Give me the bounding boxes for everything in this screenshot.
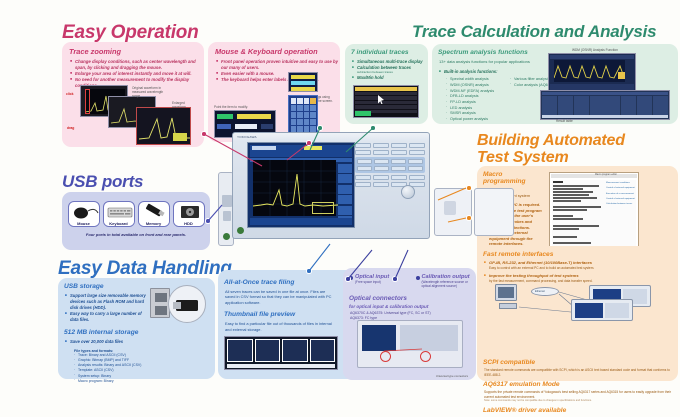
analysis-item: Optical power analysis (446, 117, 504, 123)
usb-label: Keyboard (104, 221, 134, 226)
photo-front-panel-connectors (357, 320, 463, 368)
photo-usb-sockets (150, 288, 170, 318)
power-indicator (237, 227, 244, 234)
heading-labview: LabVIEW® driver available (483, 407, 678, 414)
code-label: Calculation between traces (606, 202, 636, 207)
file-types-list: File types and formats: Trace: Binary an… (74, 349, 215, 383)
analyzer-unit-icon-2 (571, 299, 633, 321)
usb-ports-footnote: Four ports in total available on front a… (62, 232, 210, 237)
connector-dot-trace-zoom (201, 131, 207, 137)
section-title-easy-data-handling: Easy Data Handling (58, 258, 232, 280)
connector-dot-spectrum (317, 125, 323, 131)
spectrum-graph (253, 160, 336, 216)
heading-optical-input: Optical input (349, 274, 410, 280)
keyboard-icon (104, 202, 135, 222)
caption-point-item: Point the item to modify. (214, 105, 248, 109)
connector-dot-traces (370, 125, 376, 131)
sub-calibration-output: (Wavelength reference source or optical … (416, 280, 477, 288)
section-title-easy-operation: Easy Operation (62, 22, 199, 44)
connector-dot-remote (466, 215, 472, 221)
bullet-trace-zooming-1: Change display conditions, such as cente… (70, 59, 204, 71)
bullet-traces-3: Max/Min hold (352, 75, 428, 81)
screenshot-wdm-analysis (548, 53, 636, 93)
heading-calibration-output: Calibration output (416, 274, 477, 280)
mouse-icon (69, 202, 100, 222)
optical-input-block: Optical input (Free space input) (349, 274, 410, 288)
connector-dot-usb (205, 218, 211, 224)
heading-mouse-keyboard: Mouse & Keyboard operation (215, 47, 340, 56)
screenshot-onscreen-keypad (288, 95, 318, 137)
section-title-trace-calculation: Trace Calculation and Analysis (412, 22, 656, 42)
annotation-click: click (66, 92, 74, 96)
bullet-interfaces-sub: Easy to control with an external PC and … (489, 266, 678, 270)
usb-label: HDD (174, 221, 204, 226)
text-all-at-once: All seven traces can be saved in one fil… (225, 289, 333, 305)
bullet-mouse-keyboard-3: The keyboard helps enter labels and file… (216, 77, 340, 83)
photo-usb-flash-drive (168, 285, 206, 323)
bullet-traces-2: Calculation between traces subtraction b… (352, 65, 428, 75)
caption-original-waveform: Original waveform in measured wavelength… (132, 86, 172, 98)
usb-icon-row: Mouse Keyboard (62, 201, 210, 227)
title-line-1: Building Automated (477, 133, 625, 150)
heading-internal-storage: 512 MB internal storage (64, 329, 215, 336)
usb-device-mouse: Mouse (68, 201, 100, 227)
usb-device-keyboard: Keyboard (103, 201, 135, 227)
sub-optical-input: (Free space input) (349, 280, 410, 284)
peripheral-connector-panel (434, 188, 472, 236)
bullet-interfaces-bold: GP-IB, RS-232, and Ethernet (10/100Base-… (489, 260, 592, 265)
title-line-2: Test System (477, 150, 625, 167)
usb-memory-icon (139, 202, 170, 222)
heading-line-1: Macro (483, 171, 502, 178)
peripheral-side-panel (474, 188, 514, 236)
brand-text: YOKOGAWA (237, 135, 257, 139)
section-title-building-automated: Building Automated Test System (477, 133, 625, 167)
diagram-network: Ethernet (493, 281, 663, 319)
file-type-item: Macro program: Binary (74, 379, 215, 384)
panel-fast-remote-interfaces: Fast remote interfaces GP-IB, RS-232, an… (477, 246, 678, 381)
screenshot-thumbnail-browser (224, 336, 338, 370)
heading-trace-zooming: Trace zooming (69, 47, 204, 56)
label-macro-editor-title: Macro program editor (595, 174, 617, 176)
panel-optical-connectors: Optical input (Free space input) Calibra… (343, 268, 476, 380)
connector-pointer-lines-icon (384, 345, 444, 361)
caption-universal-connectors: Universal type connectors (436, 374, 468, 378)
instrument-display (247, 142, 355, 228)
bullet-mouse-keyboard-1: Front panel operation proven intuitive a… (216, 59, 340, 71)
instrument-rotary-knob[interactable] (401, 185, 415, 199)
screenshot-settings-readout (288, 72, 318, 92)
connector-dot-macro (466, 185, 472, 191)
usb-device-memory: Memory (138, 201, 170, 227)
bullet-throughput-bold: Improve the testing throughput of test s… (489, 273, 579, 278)
bullet-interfaces: GP-IB, RS-232, and Ethernet (10/100Base-… (484, 260, 678, 270)
instrument-keypad (355, 143, 425, 232)
text-thumbnail-preview: Easy to find a particular file out of th… (225, 321, 333, 332)
sub-optical-connectors: for optical input & calibration output (349, 304, 476, 309)
heading-fast-remote: Fast remote interfaces (483, 251, 678, 258)
connector-dot-optical-input (345, 276, 351, 282)
optical-io-headings: Optical input (Free space input) Calibra… (349, 274, 476, 288)
usb-label: Memory (139, 221, 169, 226)
annotation-drag: drag (67, 126, 74, 130)
bullet-usb-storage-1: Support large size removable memory devi… (65, 293, 151, 311)
code-label: Control of external equipment (606, 186, 636, 191)
usb-device-hdd: HDD (173, 201, 205, 227)
caption-enlarged-waveform: Enlarged waveform (172, 101, 198, 109)
connector-dot-calibration (392, 276, 398, 282)
hard-disk-icon (174, 202, 205, 222)
heading-7-traces: 7 individual traces (351, 49, 428, 56)
section-title-usb-ports: USB ports (62, 172, 143, 192)
screenshot-trace-list (353, 85, 419, 118)
caption-wdm-analysis: WDM (OSNR) Analysis Function (572, 48, 618, 52)
brochure-page: Easy Operation Trace zooming Change disp… (0, 0, 680, 417)
screenshot-result-table (540, 90, 670, 120)
calibration-output-block: Calibration output (Wavelength reference… (416, 274, 477, 288)
note-aq6317-emulation: Note: some commands may not be compatibl… (484, 399, 678, 402)
analysis-list-column-1: Spectral width analysis WDM (OSNR) analy… (446, 77, 504, 123)
instrument-brand: YOKOGAWA (237, 135, 257, 139)
caption-result-table: Result table (556, 119, 573, 123)
connector-dot-data-handling (306, 268, 312, 274)
panel-7-traces: 7 individual traces Simultaneous multi-t… (345, 44, 428, 124)
bullet-save-files: Save over 20,000 data files (65, 339, 215, 345)
bullet-usb-storage-2: Easy way to carry a large number of data… (65, 311, 151, 323)
optical-spectrum-analyzer: YOKOGAWA (232, 132, 430, 239)
heading-aq6317-emulation: AQ6317 emulation Mode (483, 381, 678, 388)
text-aq6317-emulation: Supports the private remote commands of … (484, 390, 678, 399)
text-scpi: The standard remote commands are compati… (484, 368, 678, 377)
heading-line-2: programming (483, 178, 526, 185)
heading-scpi: SCPI compatible (483, 359, 678, 366)
usb-label: Mouse (69, 221, 99, 226)
heading-optical-connectors: Optical connectors (349, 295, 476, 302)
connector-dot-mouse-keyboard (306, 140, 312, 146)
screenshot-enlarged-waveform (136, 107, 191, 145)
panel-usb-ports: Mouse Keyboard (62, 192, 210, 250)
